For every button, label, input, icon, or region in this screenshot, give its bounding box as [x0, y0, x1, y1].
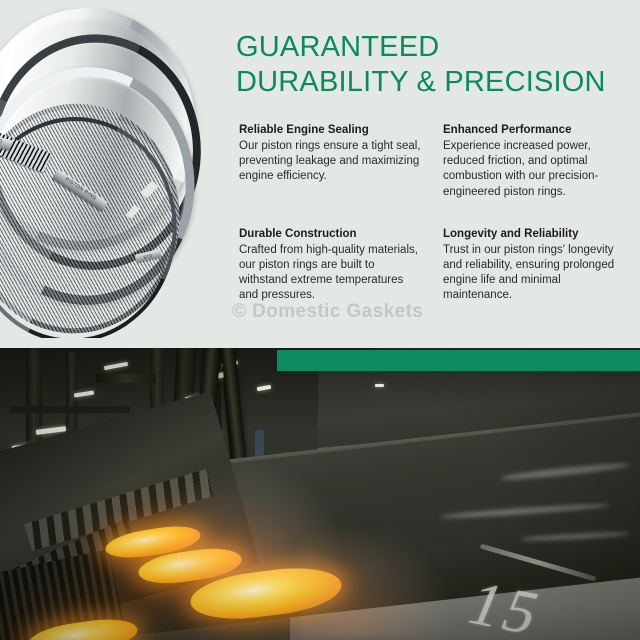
- page-title: GUARANTEED DURABILITY & PRECISION: [236, 30, 632, 100]
- heat-haze-2: [300, 528, 450, 638]
- feature-item-durable-construction: Durable Construction Crafted from high-q…: [239, 226, 443, 304]
- headline-line-1: GUARANTEED: [236, 30, 632, 65]
- feature-body: Experience increased power, reduced fric…: [443, 139, 625, 200]
- feature-body: Crafted from high-quality materials, our…: [239, 243, 421, 304]
- top-content-section: SLOTTED PISTON RING STD GUARANTEED DURAB…: [0, 0, 640, 348]
- ceiling-lamp-9: [375, 384, 384, 387]
- gantry-crossbeam-2: [10, 406, 130, 413]
- feature-grid: Reliable Engine Sealing Our piston rings…: [239, 122, 635, 304]
- promo-banner: SLOTTED PISTON RING STD GUARANTEED DURAB…: [0, 0, 640, 640]
- headline-line-2: DURABILITY & PRECISION: [236, 65, 632, 100]
- feature-item-longevity-and-reliability: Longevity and Reliability Trust in our p…: [443, 226, 635, 304]
- gantry-crossbeam-1: [96, 374, 156, 383]
- feature-body: Our piston rings ensure a tight seal, pr…: [239, 139, 421, 185]
- copyright-watermark: © Domestic Gaskets: [232, 301, 423, 323]
- feature-title: Reliable Engine Sealing: [239, 122, 443, 138]
- feature-body: Trust in our piston rings' longevity and…: [443, 243, 625, 304]
- piston-ring-product-image: SLOTTED PISTON RING STD: [0, 8, 232, 338]
- feature-title: Durable Construction: [239, 226, 443, 242]
- ring-stage: SLOTTED PISTON RING STD: [0, 8, 232, 338]
- feature-title: Longevity and Reliability: [443, 226, 635, 242]
- feature-title: Enhanced Performance: [443, 122, 635, 138]
- feature-item-enhanced-performance: Enhanced Performance Experience increase…: [443, 122, 635, 200]
- feature-item-reliable-engine-sealing: Reliable Engine Sealing Our piston rings…: [239, 122, 443, 200]
- green-accent-bar: [277, 350, 640, 371]
- factory-photo: 15: [0, 348, 640, 640]
